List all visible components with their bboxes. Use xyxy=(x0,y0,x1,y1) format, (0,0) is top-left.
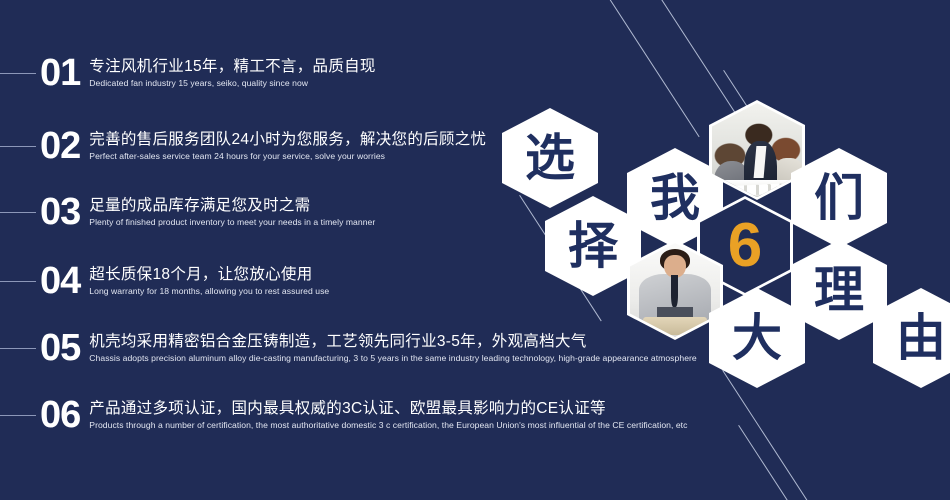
reason-dash xyxy=(0,146,36,147)
team-meeting-photo xyxy=(712,103,802,197)
reason-number: 04 xyxy=(40,262,80,300)
reason-title-en: Long warranty for 18 months, allowing yo… xyxy=(89,286,329,297)
reason-title-cn: 足量的成品库存满足您及时之需 xyxy=(89,196,375,215)
reason-number: 02 xyxy=(40,127,80,165)
hex-cell-da: 大 xyxy=(709,288,805,388)
reason-title-cn: 机壳均采用精密铝合金压铸制造，工艺领先同行业3-5年，外观高档大气 xyxy=(89,332,696,351)
reason-dash xyxy=(0,281,36,282)
diagonal-line-4 xyxy=(722,370,810,500)
reason-title-cn: 完善的售后服务团队24小时为您服务，解决您的后顾之忧 xyxy=(89,130,486,149)
hex-cell-ze: 择 xyxy=(545,196,641,296)
hex-inner: 由 xyxy=(876,291,950,385)
hex-cell-men: 们 xyxy=(791,148,887,248)
reason-item-04: 04 超长质保18个月，让您放心使用 Long warranty for 18 … xyxy=(0,257,329,305)
reason-dash xyxy=(0,212,36,213)
reason-dash xyxy=(0,348,36,349)
reason-title-en: Chassis adopts precision aluminum alloy … xyxy=(89,353,696,364)
reason-title-en: Dedicated fan industry 15 years, seiko, … xyxy=(89,78,375,89)
reason-title-en: Perfect after-sales service team 24 hour… xyxy=(89,151,486,162)
reason-title-cn: 产品通过多项认证，国内最具权威的3C认证、欧盟最具影响力的CE认证等 xyxy=(89,399,687,418)
hex-glyph: 由 xyxy=(896,313,946,363)
diagonal-line-1 xyxy=(606,0,700,137)
reason-number: 01 xyxy=(40,54,80,92)
reason-title-cn: 专注风机行业15年，精工不言，品质自现 xyxy=(89,57,375,76)
hex-glyph: 们 xyxy=(814,173,864,223)
reason-title-en: Plenty of finished product inventory to … xyxy=(89,217,375,228)
hex-cell-team-photo xyxy=(709,100,805,200)
reason-title-cn: 超长质保18个月，让您放心使用 xyxy=(89,265,329,284)
hex-inner: 选 xyxy=(505,111,595,205)
hex-glyph: 选 xyxy=(525,133,575,183)
reason-number: 06 xyxy=(40,396,80,434)
hex-inner: 大 xyxy=(712,291,802,385)
hex-inner: 理 xyxy=(794,243,884,337)
hex-glyph: 大 xyxy=(732,313,782,363)
reason-dash xyxy=(0,415,36,416)
hex-glyph-number-six: 6 xyxy=(728,215,762,277)
hex-inner xyxy=(630,243,720,337)
reason-item-05: 05 机壳均采用精密铝合金压铸制造，工艺领先同行业3-5年，外观高档大气 Cha… xyxy=(0,324,697,372)
reason-title-en: Products through a number of certificati… xyxy=(89,420,687,431)
reason-item-01: 01 专注风机行业15年，精工不言，品质自现 Dedicated fan ind… xyxy=(0,49,376,97)
reason-item-03: 03 足量的成品库存满足您及时之需 Plenty of finished pro… xyxy=(0,188,375,236)
hex-glyph: 理 xyxy=(814,265,864,315)
reason-number: 03 xyxy=(40,193,80,231)
reason-item-06: 06 产品通过多项认证，国内最具权威的3C认证、欧盟最具影响力的CE认证等 Pr… xyxy=(0,391,687,439)
hex-glyph: 择 xyxy=(568,221,618,271)
reason-item-02: 02 完善的售后服务团队24小时为您服务，解决您的后顾之忧 Perfect af… xyxy=(0,122,486,170)
hex-cell-li: 理 xyxy=(791,240,887,340)
hex-inner: 择 xyxy=(548,199,638,293)
promo-banner: 01 专注风机行业15年，精工不言，品质自现 Dedicated fan ind… xyxy=(0,0,950,500)
hex-inner: 们 xyxy=(794,151,884,245)
hex-cell-xuan: 选 xyxy=(502,108,598,208)
diagonal-line-5 xyxy=(738,425,796,500)
hex-inner xyxy=(712,103,802,197)
businessman-laptop-photo xyxy=(630,243,720,337)
hex-glyph: 我 xyxy=(650,173,700,223)
reason-dash xyxy=(0,73,36,74)
reason-number: 05 xyxy=(40,329,80,367)
